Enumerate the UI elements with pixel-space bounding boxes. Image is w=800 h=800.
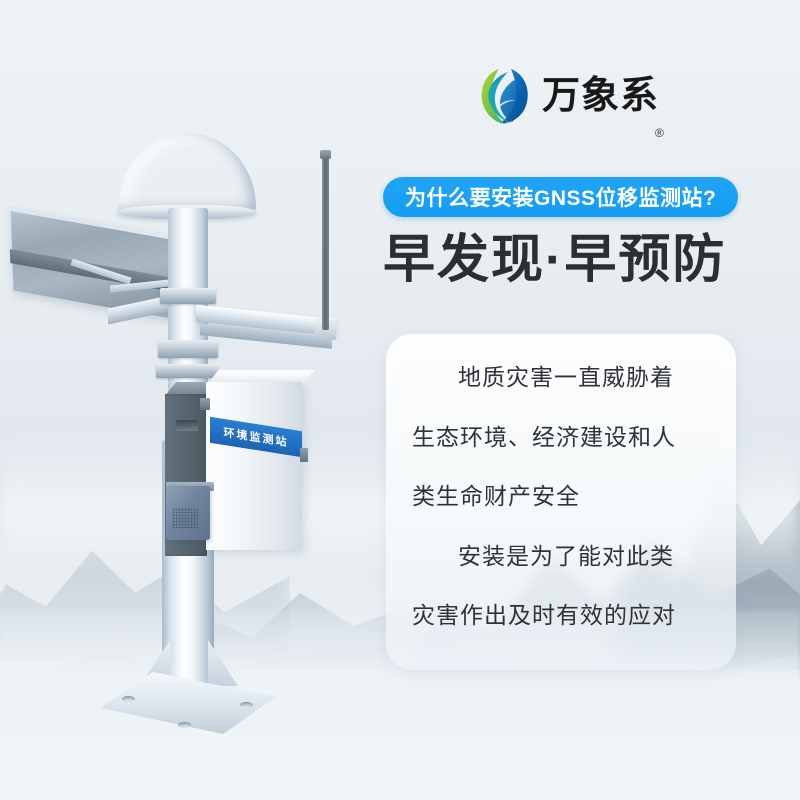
gnss-monitoring-station-illustration: 环境监测站 — [0, 0, 400, 800]
equipment-label-text: 环境监测站 — [224, 424, 289, 450]
pole-clamp-lower — [156, 364, 218, 378]
base-gusset-right — [208, 640, 238, 686]
brand-name: 万象系 — [542, 77, 659, 115]
enclosure-latch-side — [300, 448, 308, 462]
trademark-symbol: ® — [655, 126, 675, 140]
description-line-1: 地质灾害一直威胁着 — [412, 364, 710, 392]
description-line-4: 安装是为了能对此类 — [412, 543, 710, 571]
description-line-3: 类生命财产安全 — [412, 483, 710, 511]
description-line-5: 灾害作出及时有效的应对 — [412, 602, 710, 630]
gnss-antenna-dome — [118, 133, 256, 213]
pole-clamp-upper — [160, 288, 216, 304]
equipment-enclosure-box — [206, 382, 302, 550]
description-line-2: 生态环境、经济建设和人 — [412, 424, 710, 452]
enclosure-vent-slot — [176, 420, 198, 431]
description-card: 地质灾害一直威胁着 生态环境、经济建设和人 类生命财产安全 安装是为了能对此类 … — [386, 334, 736, 670]
page-title: 早发现·早预防 — [383, 231, 726, 291]
question-badge-text: 为什么要安装GNSS位移监测站? — [405, 182, 716, 212]
base-bolt-hole-right — [240, 702, 253, 708]
base-bolt-hole-front — [178, 722, 191, 728]
base-bolt-hole-left — [122, 696, 135, 702]
whip-antenna-tip — [320, 150, 331, 159]
pole-clamp-mid — [158, 340, 218, 358]
enclosure-latch-top — [200, 398, 210, 410]
louvered-vent-perforations — [172, 508, 198, 528]
question-badge: 为什么要安装GNSS位移监测站? — [383, 177, 738, 217]
globe-swirl-icon — [478, 66, 532, 126]
brand-logo: 万象系 ® — [478, 66, 659, 126]
whip-antenna-rod — [322, 155, 329, 330]
